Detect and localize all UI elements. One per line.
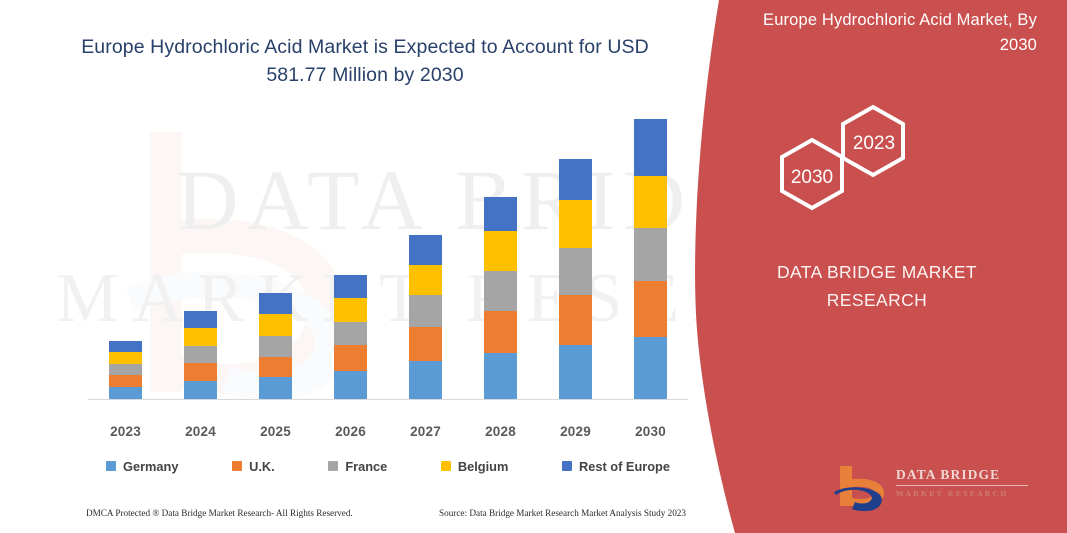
bar-segment-belgium xyxy=(259,314,292,336)
bar-segment-germany xyxy=(409,361,442,399)
legend-label: France xyxy=(345,459,387,474)
bar-segment-france xyxy=(259,336,292,357)
bar-segment-rest-of-europe xyxy=(334,275,367,298)
bar-column-2026 xyxy=(315,109,387,399)
legend-swatch-icon xyxy=(562,461,572,471)
bar-segment-france xyxy=(634,228,667,281)
logo-text-top: DATA BRIDGE xyxy=(896,467,1036,483)
legend-swatch-icon xyxy=(441,461,451,471)
logo-text-bottom: MARKET RESEARCH xyxy=(896,489,1036,498)
bar-segment-belgium xyxy=(484,231,517,271)
bar-segment-u-k xyxy=(409,327,442,361)
bar-segment-france xyxy=(334,322,367,345)
panel-title: Europe Hydrochloric Acid Market, By 2030 xyxy=(747,8,1037,58)
bar-segment-u-k xyxy=(559,295,592,345)
bar-segment-rest-of-europe xyxy=(559,159,592,200)
bar-segment-belgium xyxy=(634,176,667,228)
bar-segment-u-k xyxy=(184,363,217,381)
legend-item-u-k[interactable]: U.K. xyxy=(232,459,275,474)
x-tick-2026: 2026 xyxy=(315,424,387,444)
legend-swatch-icon xyxy=(328,461,338,471)
infographic-canvas: DATA BRIDGE MARKET RESEARCH Europe Hydro… xyxy=(0,0,1067,533)
bar-segment-belgium xyxy=(184,328,217,346)
x-tick-2028: 2028 xyxy=(465,424,537,444)
legend-label: Belgium xyxy=(458,459,508,474)
legend-item-germany[interactable]: Germany xyxy=(106,459,178,474)
brand-line-1: DATA BRIDGE MARKET xyxy=(777,262,977,282)
hexagon-2023-label: 2023 xyxy=(853,133,895,154)
plot-area xyxy=(88,110,688,410)
x-tick-2029: 2029 xyxy=(540,424,612,444)
bar-segment-france xyxy=(109,364,142,375)
bar-segment-u-k xyxy=(334,345,367,371)
bar-column-2028 xyxy=(465,109,537,399)
bar-segment-france xyxy=(409,295,442,327)
stacked-bar xyxy=(334,275,367,399)
stacked-bar xyxy=(484,197,517,399)
x-axis-line xyxy=(88,399,688,400)
brand-panel: Europe Hydrochloric Acid Market, By 2030… xyxy=(687,0,1067,533)
legend-item-belgium[interactable]: Belgium xyxy=(441,459,508,474)
logo-b-mark-icon xyxy=(832,462,892,514)
footer-source: Source: Data Bridge Market Research Mark… xyxy=(439,508,686,518)
bar-segment-belgium xyxy=(109,352,142,364)
bar-series-group xyxy=(88,109,688,399)
bar-segment-rest-of-europe xyxy=(109,341,142,352)
bar-segment-rest-of-europe xyxy=(484,197,517,231)
bar-segment-france xyxy=(184,346,217,363)
legend-item-france[interactable]: France xyxy=(328,459,387,474)
stacked-bar xyxy=(409,235,442,399)
bar-segment-germany xyxy=(559,345,592,399)
x-tick-2023: 2023 xyxy=(90,424,162,444)
bar-segment-rest-of-europe xyxy=(409,235,442,265)
bar-segment-germany xyxy=(184,381,217,399)
bar-segment-germany xyxy=(484,353,517,399)
company-logo: DATA BRIDGE MARKET RESEARCH xyxy=(832,462,1032,514)
bar-column-2029 xyxy=(540,109,612,399)
bar-segment-rest-of-europe xyxy=(259,293,292,314)
bar-segment-france xyxy=(559,248,592,295)
chart-legend: GermanyU.K.FranceBelgiumRest of Europe xyxy=(88,455,688,477)
stacked-bar xyxy=(559,159,592,399)
bar-segment-u-k xyxy=(634,281,667,337)
legend-swatch-icon xyxy=(106,461,116,471)
bar-segment-france xyxy=(484,271,517,311)
bar-segment-germany xyxy=(634,337,667,399)
stacked-bar-chart xyxy=(88,110,688,420)
bar-segment-belgium xyxy=(559,200,592,248)
footer-copyright: DMCA Protected ® Data Bridge Market Rese… xyxy=(86,508,353,518)
legend-item-rest-of-europe[interactable]: Rest of Europe xyxy=(562,459,670,474)
bar-segment-rest-of-europe xyxy=(184,311,217,328)
stacked-bar xyxy=(184,311,217,399)
stacked-bar xyxy=(259,293,292,399)
legend-swatch-icon xyxy=(232,461,242,471)
brand-name: DATA BRIDGE MARKET RESEARCH xyxy=(687,258,1067,315)
x-tick-2027: 2027 xyxy=(390,424,462,444)
chart-title: Europe Hydrochloric Acid Market is Expec… xyxy=(60,34,670,89)
bar-segment-u-k xyxy=(259,357,292,377)
logo-wordmark: DATA BRIDGE MARKET RESEARCH xyxy=(896,467,1036,498)
bar-column-2023 xyxy=(90,109,162,399)
bar-column-2025 xyxy=(240,109,312,399)
stacked-bar xyxy=(109,341,142,399)
bar-column-2030 xyxy=(615,109,687,399)
x-tick-2025: 2025 xyxy=(240,424,312,444)
bar-segment-germany xyxy=(334,371,367,399)
logo-divider xyxy=(896,485,1028,486)
bar-segment-rest-of-europe xyxy=(634,119,667,176)
x-tick-2024: 2024 xyxy=(165,424,237,444)
legend-label: U.K. xyxy=(249,459,275,474)
bar-segment-u-k xyxy=(484,311,517,353)
hexagon-badges: 2030 2023 xyxy=(687,90,1067,220)
footer: DMCA Protected ® Data Bridge Market Rese… xyxy=(86,508,686,518)
bar-segment-u-k xyxy=(109,375,142,387)
bar-column-2027 xyxy=(390,109,462,399)
x-tick-2030: 2030 xyxy=(615,424,687,444)
bar-segment-belgium xyxy=(409,265,442,295)
bar-segment-germany xyxy=(259,377,292,399)
stacked-bar xyxy=(634,119,667,399)
legend-label: Rest of Europe xyxy=(579,459,670,474)
brand-line-2: RESEARCH xyxy=(687,286,1067,314)
bar-column-2024 xyxy=(165,109,237,399)
legend-label: Germany xyxy=(123,459,178,474)
x-axis-tick-labels: 20232024202520262027202820292030 xyxy=(88,424,688,444)
hexagon-2030-label: 2030 xyxy=(791,167,833,188)
bar-segment-belgium xyxy=(334,298,367,322)
bar-segment-germany xyxy=(109,387,142,399)
